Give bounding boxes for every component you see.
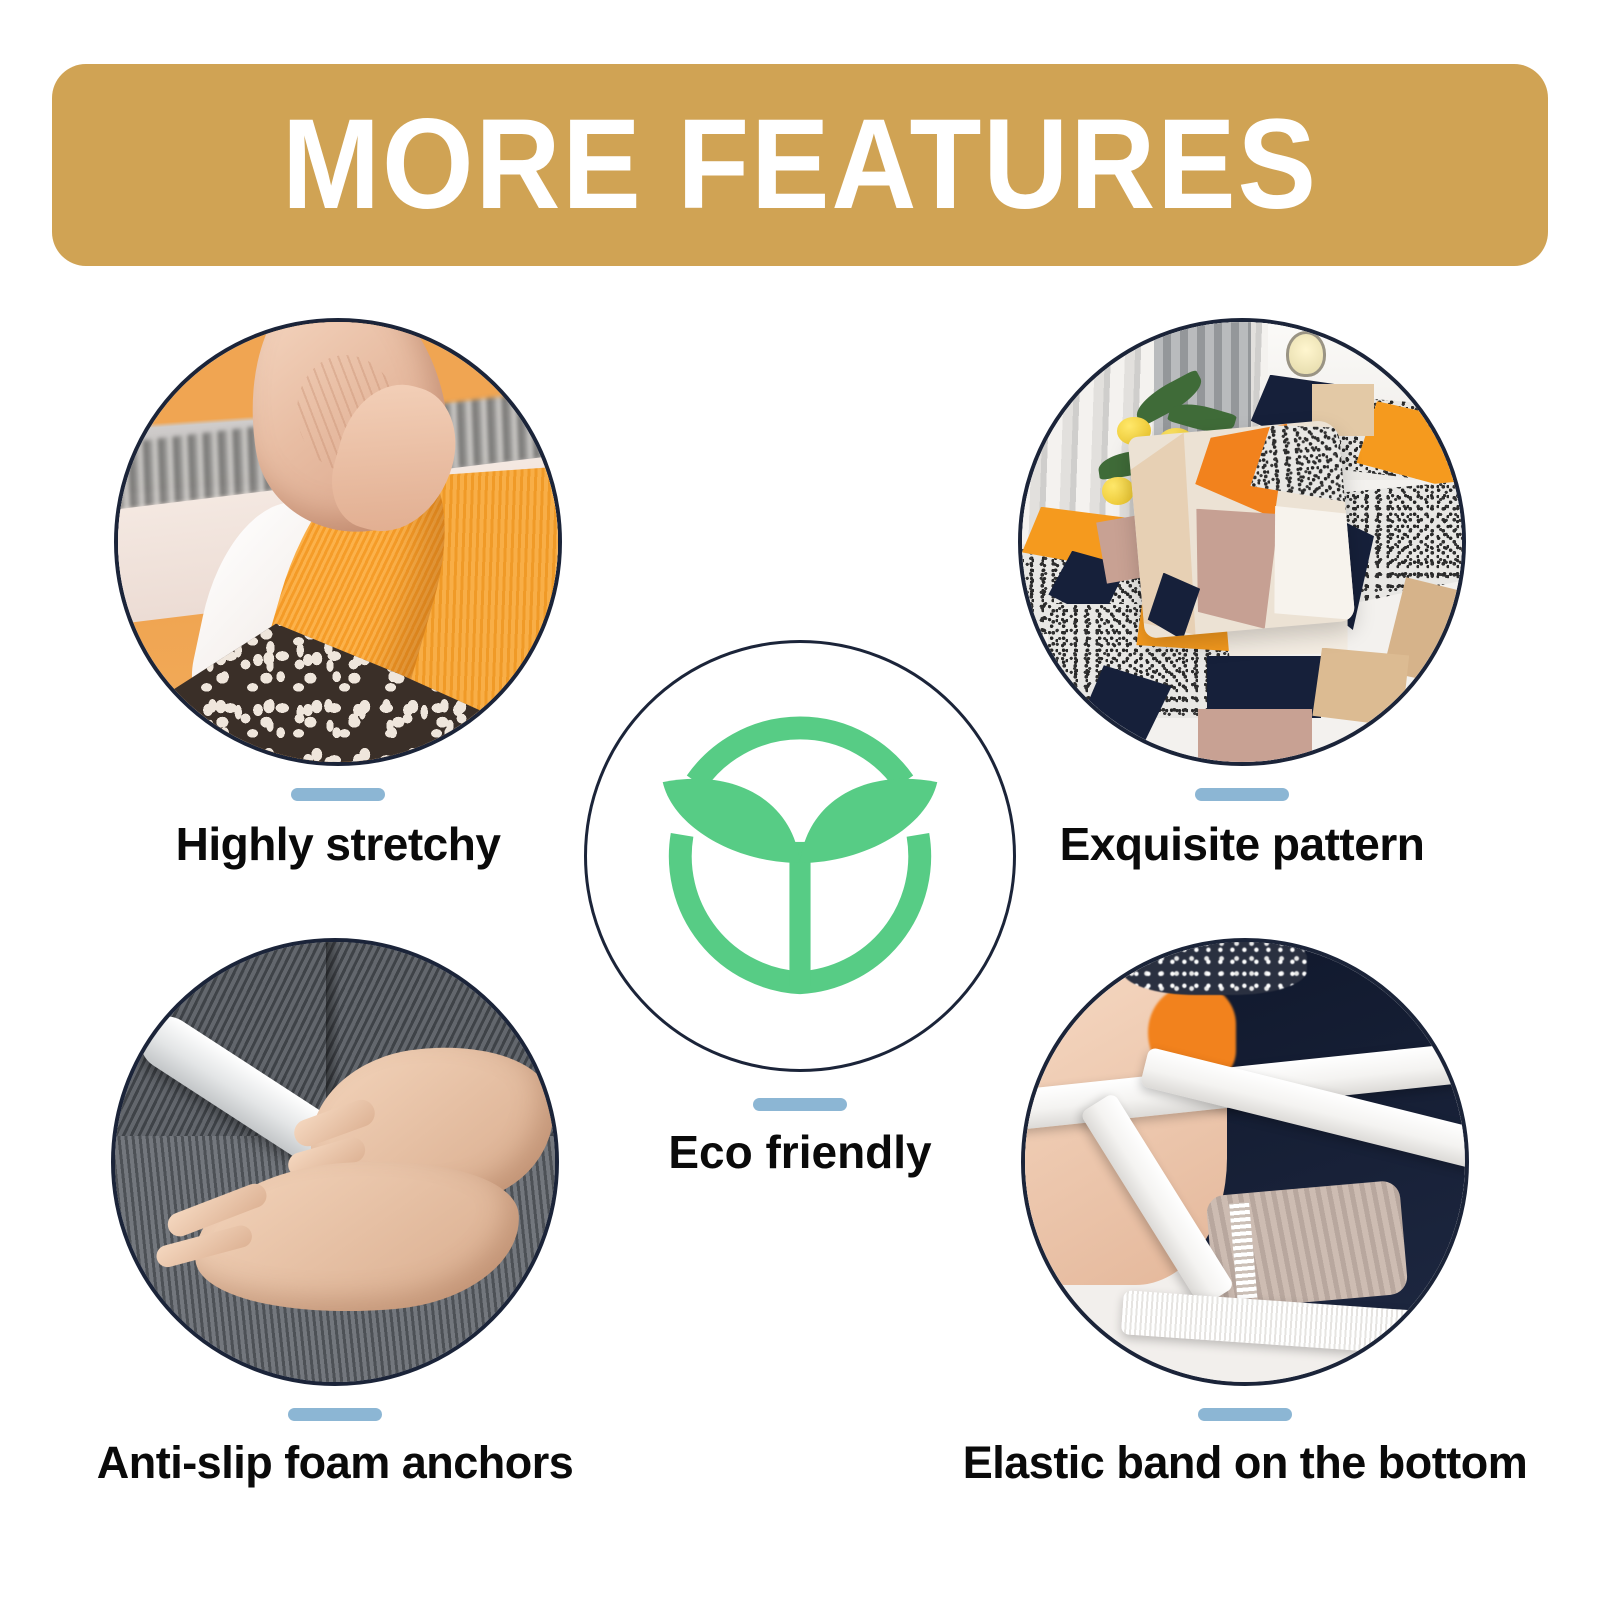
seat-tan-panel (1312, 648, 1409, 727)
eco-friendly-badge: Eco friendly (570, 640, 1030, 1179)
photo-anti-slip-foam-anchors (111, 938, 559, 1386)
divider-bar (1198, 1408, 1292, 1421)
feature-label-elastic-band: Elastic band on the bottom (963, 1437, 1528, 1489)
cushion (1128, 419, 1356, 639)
header-banner: MORE FEATURES (52, 64, 1548, 266)
feature-highly-stretchy: Highly stretchy (108, 318, 568, 871)
photo-highly-stretchy (114, 318, 562, 766)
cushion-cream-right (1265, 499, 1356, 627)
seat-mauve-panel (1198, 709, 1312, 766)
photo-exquisite-pattern (1018, 318, 1466, 766)
gathered-fabric (1205, 1180, 1408, 1311)
speckled-fabric-edge (1122, 938, 1307, 995)
stretchy-fabric-image (118, 322, 558, 762)
elastic-band-image (1025, 942, 1465, 1382)
patterned-sofa-image (1022, 322, 1462, 762)
divider-bar (753, 1098, 847, 1111)
divider-bar (291, 788, 385, 801)
photo-elastic-band (1021, 938, 1469, 1386)
sprout-leaf-icon (624, 680, 976, 1032)
feature-label-anti-slip-foam-anchors: Anti-slip foam anchors (97, 1437, 574, 1489)
divider-bar (288, 1408, 382, 1421)
feature-label-highly-stretchy: Highly stretchy (176, 817, 501, 871)
divider-bar (1195, 788, 1289, 801)
eco-friendly-label: Eco friendly (668, 1125, 931, 1179)
page-title: MORE FEATURES (282, 101, 1318, 229)
foam-anchor-image (115, 942, 555, 1382)
light-bulb (1286, 331, 1326, 377)
feature-exquisite-pattern: Exquisite pattern (1012, 318, 1472, 871)
feature-elastic-band-on-the-bottom: Elastic band on the bottom (1015, 938, 1475, 1489)
feature-anti-slip-foam-anchors: Anti-slip foam anchors (105, 938, 565, 1489)
feature-label-exquisite-pattern: Exquisite pattern (1060, 817, 1425, 871)
eco-circle-outline (584, 640, 1016, 1072)
